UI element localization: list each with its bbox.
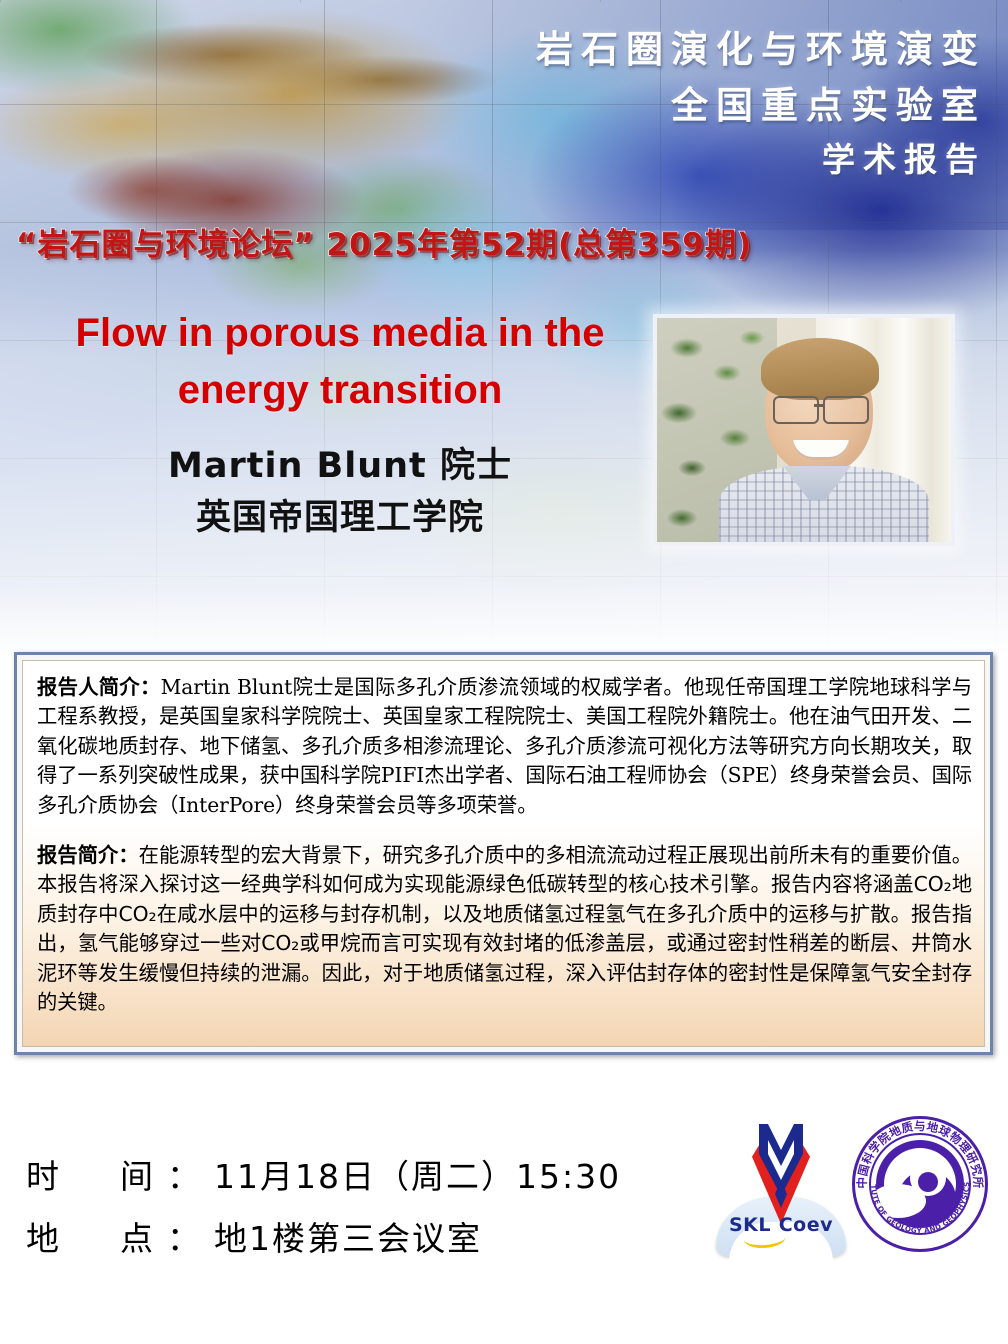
- talk-abstract-text: 在能源转型的宏大背景下，研究多孔介质中的多相流流动过程正展现出前所未有的重要价值…: [37, 843, 972, 1014]
- skl-blue-w-icon: [754, 1122, 808, 1210]
- speaker-bio-text: Martin Blunt院士是国际多孔介质渗流领域的权威学者。他现任帝国理工学院…: [37, 675, 972, 817]
- description-box: 报告人简介：Martin Blunt院士是国际多孔介质渗流领域的权威学者。他现任…: [14, 652, 993, 1055]
- photo-hair: [761, 338, 879, 400]
- header-line-1: 岩石圈演化与环境演变: [346, 22, 986, 78]
- header-line-2: 全国重点实验室: [346, 78, 986, 134]
- time-value: 11月18日（周二）15:30: [214, 1157, 621, 1196]
- talk-title-line-1: Flow in porous media in the: [30, 305, 650, 362]
- time-label: 时 间：: [26, 1157, 214, 1196]
- speaker-block: Martin Blunt 院士 英国帝国理工学院: [30, 440, 650, 544]
- forum-issue-banner: “岩石圈与环境论坛” 2025年第52期(总第359期): [16, 219, 752, 264]
- skl-text-right: Coev: [779, 1214, 833, 1236]
- igg-cas-seal-logo: 中国科学院地质与地球物理研究所 INSTITUTE OF GEOLOGY AND…: [852, 1116, 988, 1252]
- talk-abstract-paragraph: 报告简介：在能源转型的宏大背景下，研究多孔介质中的多相流流动过程正展现出前所未有…: [37, 841, 972, 1017]
- header-line-3: 学术报告: [346, 134, 986, 186]
- photo-glasses-bridge: [814, 404, 825, 407]
- speaker-portrait-photo: [657, 318, 951, 542]
- skl-logo-text: SKL·Coev: [716, 1214, 846, 1236]
- lab-header-title: 岩石圈演化与环境演变 全国重点实验室 学术报告: [346, 22, 986, 186]
- event-time-row: 时 间：11月18日（周二）15:30: [26, 1146, 621, 1208]
- skl-text-left: SKL: [729, 1214, 771, 1236]
- talk-title: Flow in porous media in the energy trans…: [30, 305, 650, 419]
- speaker-bio-paragraph: 报告人简介：Martin Blunt院士是国际多孔介质渗流领域的权威学者。他现任…: [37, 673, 972, 820]
- event-place-row: 地 点：地1楼第三会议室: [26, 1208, 621, 1270]
- talk-title-line-2: energy transition: [30, 362, 650, 419]
- seal-circular-text: 中国科学院地质与地球物理研究所 INSTITUTE OF GEOLOGY AND…: [852, 1116, 988, 1252]
- photo-glasses-left-lens: [773, 396, 819, 424]
- seminar-poster: 岩石圈演化与环境演变 全国重点实验室 学术报告 “岩石圈与环境论坛” 2025年…: [0, 0, 1008, 1344]
- description-inner: 报告人简介：Martin Blunt院士是国际多孔介质渗流领域的权威学者。他现任…: [22, 660, 985, 1047]
- talk-abstract-label: 报告简介：: [37, 843, 139, 867]
- skl-coev-logo: SKL·Coev: [716, 1118, 846, 1268]
- speaker-name: Martin Blunt 院士: [30, 440, 650, 492]
- speaker-bio-label: 报告人简介：: [37, 675, 161, 699]
- place-value: 地1楼第三会议室: [214, 1219, 482, 1258]
- speaker-affiliation: 英国帝国理工学院: [30, 492, 650, 544]
- event-details: 时 间：11月18日（周二）15:30 地 点：地1楼第三会议室: [26, 1146, 621, 1270]
- place-label: 地 点：: [26, 1219, 214, 1258]
- seal-chinese-text: 中国科学院地质与地球物理研究所: [855, 1119, 985, 1189]
- photo-glasses-right-lens: [823, 396, 869, 424]
